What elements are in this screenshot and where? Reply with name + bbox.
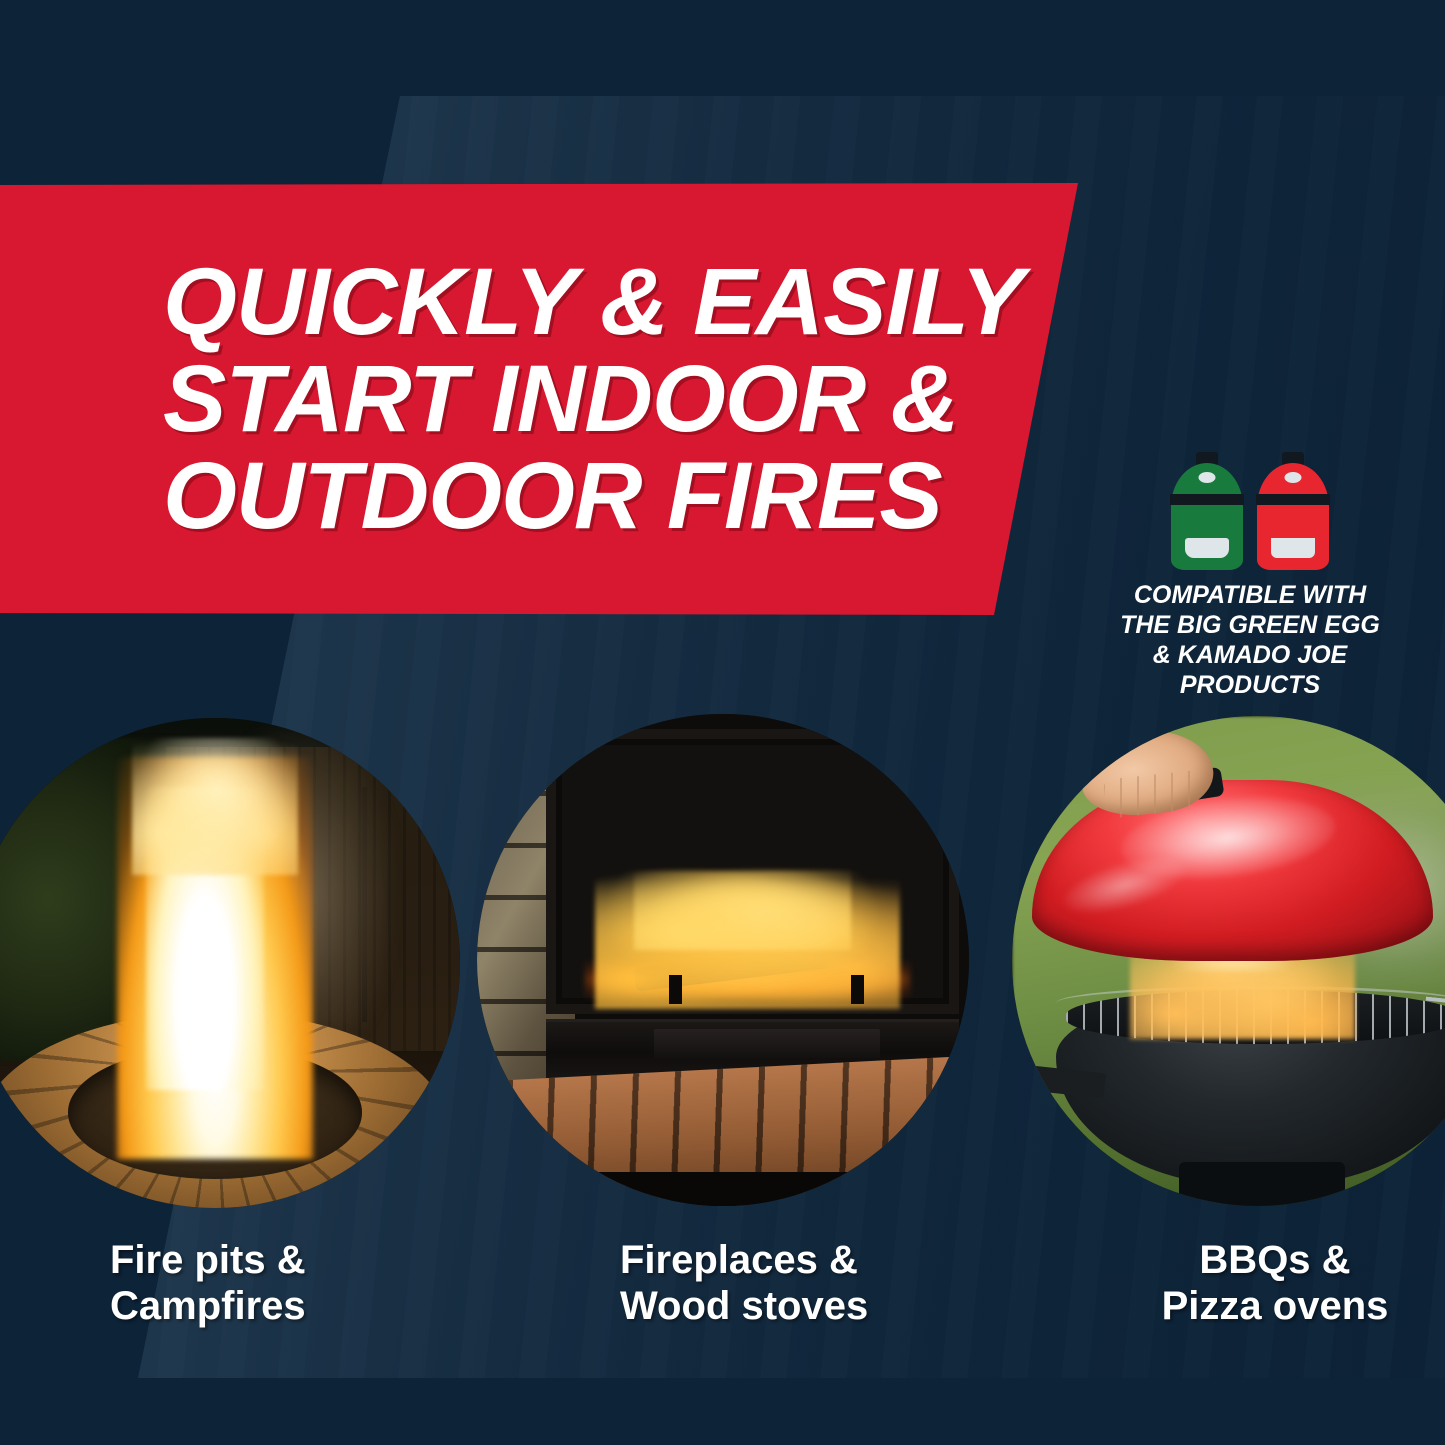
compatibility-line-3: & KAMADO JOE PRODUCTS bbox=[1080, 640, 1420, 700]
grill-legs bbox=[1179, 1162, 1346, 1206]
compatibility-line-1: COMPATIBLE WITH bbox=[1080, 580, 1420, 610]
bbq-grill-photo bbox=[1012, 716, 1445, 1206]
grill-lid-badge-icon bbox=[1285, 472, 1302, 483]
grill-vent-icon bbox=[1185, 538, 1229, 558]
floor-layer bbox=[477, 1172, 969, 1206]
headline-line-1: QUICKLY & EASILY bbox=[163, 254, 1000, 351]
grill-lid-badge-icon bbox=[1199, 472, 1216, 483]
grill-band-shape bbox=[1170, 494, 1244, 505]
headline-block: QUICKLY & EASILY START INDOOR & OUTDOOR … bbox=[0, 183, 1000, 615]
caption-bbqs: BBQs & Pizza ovens bbox=[1130, 1237, 1420, 1329]
kamado-grill-red-icon bbox=[1257, 452, 1329, 570]
grill-vent-icon bbox=[1271, 538, 1315, 558]
grill-band-shape bbox=[1256, 494, 1330, 505]
headline-line-3: OUTDOOR FIRES bbox=[163, 448, 1000, 545]
kamado-icons-group bbox=[1080, 452, 1420, 572]
compatibility-badge: COMPATIBLE WITH THE BIG GREEN EGG & KAMA… bbox=[1080, 452, 1420, 700]
fireplace-scene bbox=[477, 714, 969, 1206]
compatibility-text: COMPATIBLE WITH THE BIG GREEN EGG & KAMA… bbox=[1080, 580, 1420, 700]
flame-tips-layer bbox=[634, 862, 850, 951]
product-feature-banner: QUICKLY & EASILY START INDOOR & OUTDOOR … bbox=[0, 0, 1445, 1445]
fireplace-vent-bar bbox=[654, 1029, 880, 1059]
compatibility-line-2: THE BIG GREEN EGG bbox=[1080, 610, 1420, 640]
kamado-grill-green-icon bbox=[1171, 452, 1243, 570]
fireplace-photo bbox=[477, 714, 969, 1206]
fire-pit-scene bbox=[0, 718, 460, 1208]
flame-tips-layer bbox=[132, 738, 299, 875]
caption-fire-pits: Fire pits & Campfires bbox=[110, 1237, 306, 1329]
headline-line-2: START INDOOR & bbox=[163, 351, 1000, 448]
andiron-right bbox=[851, 975, 864, 1005]
fire-pit-photo bbox=[0, 718, 460, 1208]
andiron-left bbox=[669, 975, 682, 1005]
bbq-scene bbox=[1012, 716, 1445, 1206]
caption-fireplaces: Fireplaces & Wood stoves bbox=[620, 1237, 868, 1329]
